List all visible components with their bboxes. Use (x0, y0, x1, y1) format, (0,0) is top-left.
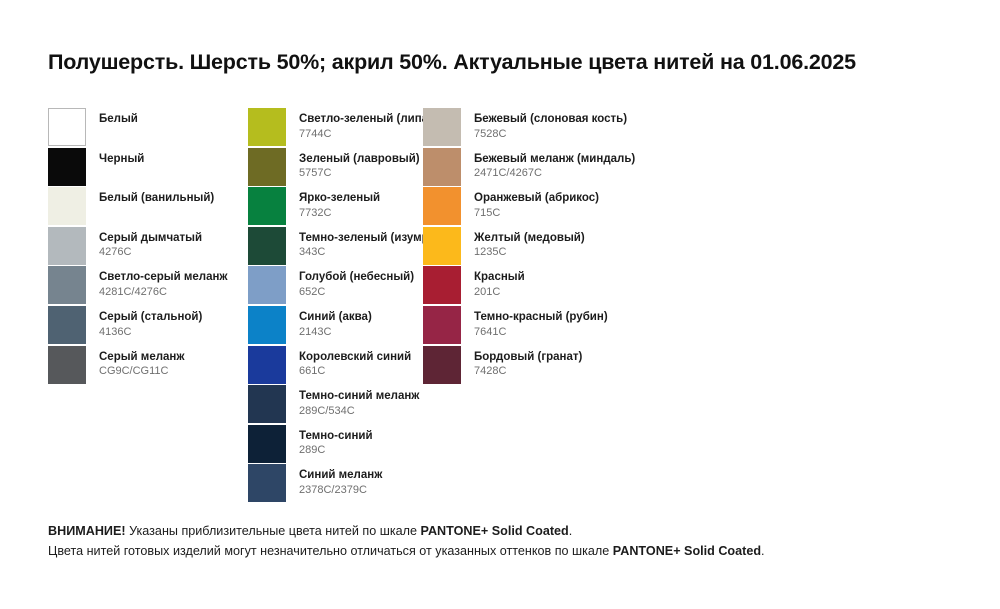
swatch-text: Темно-синий меланж289C/534C (299, 385, 419, 418)
swatch-pantone-code: 7732C (299, 207, 380, 220)
color-swatch (423, 187, 461, 225)
footer-line-2-end: . (761, 544, 765, 558)
pantone-brand-1: PANTONE+ Solid Coated (420, 524, 568, 538)
footer-line-1-text: Указаны приблизительные цвета нитей по ш… (126, 524, 421, 538)
swatch-row: Синий (аква)2143C (248, 306, 423, 346)
swatch-text: Серый дымчатый4276C (99, 227, 202, 260)
swatch-name: Серый (стальной) (99, 311, 202, 325)
swatch-pantone-code: 289C/534C (299, 405, 419, 418)
color-swatch (248, 227, 286, 265)
swatch-name: Королевский синий (299, 351, 411, 365)
swatch-row: Серый (стальной)4136C (48, 306, 248, 346)
page-title: Полушерсть. Шерсть 50%; акрил 50%. Актуа… (48, 50, 856, 75)
swatch-text: Красный201C (474, 266, 525, 299)
swatch-name: Черный (99, 153, 144, 167)
swatch-pantone-code: 5757C (299, 167, 420, 180)
swatch-text: Светло-зеленый (липа)7744C (299, 108, 432, 141)
swatch-name: Серый дымчатый (99, 232, 202, 246)
swatch-pantone-code: 2378C/2379C (299, 484, 382, 497)
swatch-row: Королевский синий661C (248, 346, 423, 386)
swatch-row: Темно-синий289C (248, 425, 423, 465)
swatch-row: Темно-синий меланж289C/534C (248, 385, 423, 425)
swatch-name: Темно-синий меланж (299, 390, 419, 404)
swatch-text: Темно-синий289C (299, 425, 373, 458)
swatch-row: Оранжевый (абрикос)715C (423, 187, 723, 227)
color-swatch (48, 306, 86, 344)
swatch-pantone-code: 7528C (474, 128, 627, 141)
color-swatch (48, 148, 86, 186)
swatch-text: Синий (аква)2143C (299, 306, 372, 339)
footer-line-2: Цвета нитей готовых изделий могут незнач… (48, 542, 948, 562)
swatch-text: Синий меланж2378C/2379C (299, 464, 382, 497)
color-swatch (248, 464, 286, 502)
swatch-name: Серый меланж (99, 351, 185, 365)
swatch-text: Серый меланжCG9C/CG11C (99, 346, 185, 379)
swatch-pantone-code: 4276C (99, 246, 202, 259)
swatch-row: Красный201C (423, 266, 723, 306)
color-swatch (48, 187, 86, 225)
color-swatch (248, 306, 286, 344)
color-swatch (423, 108, 461, 146)
swatch-row: Белый (ванильный) (48, 187, 248, 227)
swatch-row: Серый дымчатый4276C (48, 227, 248, 267)
footer-disclaimer: ВНИМАНИЕ! Указаны приблизительные цвета … (48, 522, 948, 561)
swatch-row: Синий меланж2378C/2379C (248, 464, 423, 504)
swatch-name: Темно-красный (рубин) (474, 311, 608, 325)
swatch-name: Белый (99, 113, 138, 127)
swatch-pantone-code: 2471C/4267C (474, 167, 635, 180)
color-swatch (248, 266, 286, 304)
footer-attention-label: ВНИМАНИЕ! (48, 524, 126, 538)
color-swatch (248, 425, 286, 463)
swatch-row: Бордовый (гранат)7428C (423, 346, 723, 386)
swatch-name: Бордовый (гранат) (474, 351, 582, 365)
column-1: БелыйЧерныйБелый (ванильный)Серый дымчат… (48, 108, 248, 504)
swatch-text: Оранжевый (абрикос)715C (474, 187, 599, 220)
swatch-row: Светло-зеленый (липа)7744C (248, 108, 423, 148)
swatch-text: Темно-красный (рубин)7641C (474, 306, 608, 339)
swatch-text: Бордовый (гранат)7428C (474, 346, 582, 379)
swatch-pantone-code: 652C (299, 286, 414, 299)
swatch-text: Королевский синий661C (299, 346, 411, 379)
swatch-pantone-code: 7428C (474, 365, 582, 378)
swatch-name: Голубой (небесный) (299, 271, 414, 285)
swatch-name: Светло-зеленый (липа) (299, 113, 432, 127)
color-swatch (248, 108, 286, 146)
color-swatch (48, 346, 86, 384)
footer-line-1: ВНИМАНИЕ! Указаны приблизительные цвета … (48, 522, 948, 542)
swatch-pantone-code: 661C (299, 365, 411, 378)
swatch-row: Темно-зеленый (изумруд)343C (248, 227, 423, 267)
swatch-pantone-code: 1235C (474, 246, 585, 259)
footer-line-2-text: Цвета нитей готовых изделий могут незнач… (48, 544, 613, 558)
column-2: Светло-зеленый (липа)7744CЗеленый (лавро… (248, 108, 423, 504)
swatch-text: Серый (стальной)4136C (99, 306, 202, 339)
swatch-name: Бежевый (слоновая кость) (474, 113, 627, 127)
swatch-row: Белый (48, 108, 248, 148)
color-swatch (423, 148, 461, 186)
swatch-name: Темно-синий (299, 430, 373, 444)
color-swatch (48, 266, 86, 304)
swatch-row: Бежевый меланж (миндаль)2471C/4267C (423, 148, 723, 188)
swatch-pantone-code: 201C (474, 286, 525, 299)
swatch-name: Оранжевый (абрикос) (474, 192, 599, 206)
swatch-pantone-code: 715C (474, 207, 599, 220)
swatch-row: Голубой (небесный)652C (248, 266, 423, 306)
swatch-text: Черный (99, 148, 144, 167)
swatch-text: Светло-серый меланж4281C/4276C (99, 266, 228, 299)
color-swatch (248, 346, 286, 384)
swatch-columns: БелыйЧерныйБелый (ванильный)Серый дымчат… (48, 108, 958, 504)
swatch-text: Белый (ванильный) (99, 187, 214, 206)
swatch-text: Белый (99, 108, 138, 127)
footer-line-1-end: . (569, 524, 573, 538)
swatch-name: Красный (474, 271, 525, 285)
swatch-name: Ярко-зеленый (299, 192, 380, 206)
swatch-name: Желтый (медовый) (474, 232, 585, 246)
color-swatch (248, 385, 286, 423)
swatch-text: Ярко-зеленый7732C (299, 187, 380, 220)
swatch-pantone-code: 4136C (99, 326, 202, 339)
swatch-pantone-code: 7641C (474, 326, 608, 339)
color-chart-page: Полушерсть. Шерсть 50%; акрил 50%. Актуа… (0, 0, 1000, 609)
swatch-pantone-code: 289C (299, 444, 373, 457)
swatch-row: Черный (48, 148, 248, 188)
swatch-row: Светло-серый меланж4281C/4276C (48, 266, 248, 306)
swatch-pantone-code: 4281C/4276C (99, 286, 228, 299)
swatch-name: Светло-серый меланж (99, 271, 228, 285)
swatch-row: Темно-красный (рубин)7641C (423, 306, 723, 346)
swatch-text: Зеленый (лавровый)5757C (299, 148, 420, 181)
swatch-row: Серый меланжCG9C/CG11C (48, 346, 248, 386)
swatch-text: Бежевый (слоновая кость)7528C (474, 108, 627, 141)
pantone-brand-2: PANTONE+ Solid Coated (613, 544, 761, 558)
color-swatch (48, 108, 86, 146)
color-swatch (248, 187, 286, 225)
swatch-text: Голубой (небесный)652C (299, 266, 414, 299)
color-swatch (423, 227, 461, 265)
swatch-text: Бежевый меланж (миндаль)2471C/4267C (474, 148, 635, 181)
swatch-name: Бежевый меланж (миндаль) (474, 153, 635, 167)
swatch-pantone-code: CG9C/CG11C (99, 365, 185, 378)
color-swatch (423, 346, 461, 384)
swatch-text: Желтый (медовый)1235C (474, 227, 585, 260)
swatch-name: Синий меланж (299, 469, 382, 483)
swatch-row: Ярко-зеленый7732C (248, 187, 423, 227)
swatch-row: Зеленый (лавровый)5757C (248, 148, 423, 188)
color-swatch (48, 227, 86, 265)
swatch-row: Бежевый (слоновая кость)7528C (423, 108, 723, 148)
color-swatch (423, 306, 461, 344)
color-swatch (248, 148, 286, 186)
swatch-name: Зеленый (лавровый) (299, 153, 420, 167)
swatch-row: Желтый (медовый)1235C (423, 227, 723, 267)
swatch-name: Белый (ванильный) (99, 192, 214, 206)
swatch-pantone-code: 7744C (299, 128, 432, 141)
swatch-name: Синий (аква) (299, 311, 372, 325)
swatch-pantone-code: 2143C (299, 326, 372, 339)
color-swatch (423, 266, 461, 304)
column-3: Бежевый (слоновая кость)7528CБежевый мел… (423, 108, 723, 504)
